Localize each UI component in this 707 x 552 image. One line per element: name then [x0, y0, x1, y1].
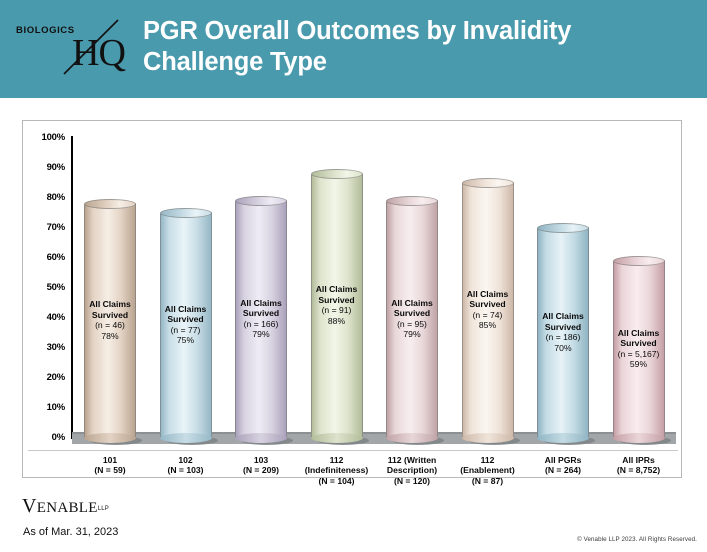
bar-data-label-line1: All Claims Survived [530, 311, 596, 332]
header-banner: BIOLOGICS HQ PGR Overall Outcomes by Inv… [0, 0, 707, 98]
y-axis-tick: 80% [23, 192, 65, 203]
copyright-notice: © Venable LLP 2023. All Rights Reserved. [577, 536, 697, 543]
plot-area: 100%90%80%70%60%50%40%30%20%10%0% All Cl… [23, 121, 683, 479]
bar-data-label: All Claims Survived(n = 5,167) 59% [606, 328, 672, 370]
y-axis-tick: 70% [23, 222, 65, 233]
bar-data-label-line2: (n = 95) 79% [379, 319, 445, 340]
bar-data-label-line1: All Claims Survived [379, 298, 445, 319]
bar-cylinder-top [613, 256, 665, 266]
y-axis-tick: 0% [23, 432, 65, 443]
bar-cylinder-top [537, 223, 589, 233]
y-axis-tick: 60% [23, 252, 65, 263]
bar-cylinder-top [235, 196, 287, 206]
y-axis-tick: 30% [23, 342, 65, 353]
bar-cylinder-base [311, 433, 363, 443]
bar-cylinder-base [160, 433, 212, 443]
logo-biologics-text: BIOLOGICS [16, 25, 75, 36]
y-axis-line [71, 136, 73, 439]
biologics-hq-logo: BIOLOGICS HQ [14, 14, 134, 88]
venable-logo-main: ENABLE [37, 500, 98, 516]
venable-logo-initial: V [22, 495, 37, 517]
bar-cylinder-top [386, 196, 438, 206]
venable-logo: VENABLELLP [22, 496, 109, 519]
bar-data-label-line2: (n = 186) 70% [530, 332, 596, 353]
bar-data-label-line2: (n = 46) 78% [77, 320, 143, 341]
bar-data-label-line2: (n = 5,167) 59% [606, 349, 672, 370]
x-axis-tick: All IPRs (N = 8,752) [595, 455, 683, 476]
y-axis-tick: 100% [23, 132, 65, 143]
bar-cylinder-base [386, 433, 438, 443]
bar-data-label: All Claims Survived(n = 95) 79% [379, 298, 445, 340]
bar-6[interactable]: All Claims Survived(n = 74) 85% [462, 183, 514, 438]
bar-data-label: All Claims Survived(n = 166) 79% [228, 298, 294, 340]
as-of-date: As of Mar. 31, 2023 [23, 526, 118, 538]
bar-3[interactable]: All Claims Survived(n = 166) 79% [235, 201, 287, 438]
y-axis-tick: 20% [23, 372, 65, 383]
bar-cylinder-top [84, 199, 136, 209]
bar-data-label-line1: All Claims Survived [455, 289, 521, 310]
bar-8[interactable]: All Claims Survived(n = 5,167) 59% [613, 261, 665, 438]
page-title: PGR Overall Outcomes by Invalidity Chall… [143, 16, 683, 78]
bar-data-label-line1: All Claims Survived [304, 284, 370, 305]
bar-data-label: All Claims Survived(n = 77) 75% [153, 304, 219, 346]
venable-logo-suffix: LLP [98, 506, 109, 512]
bar-data-label-line2: (n = 91) 88% [304, 305, 370, 326]
y-axis-tick: 10% [23, 402, 65, 413]
bar-cylinder-top [311, 169, 363, 179]
bar-data-label: All Claims Survived(n = 46) 78% [77, 299, 143, 341]
bar-data-label-line1: All Claims Survived [77, 299, 143, 320]
y-axis-tick: 90% [23, 162, 65, 173]
bar-cylinder-base [84, 433, 136, 443]
x-axis-separator [28, 450, 678, 451]
y-axis-tick: 40% [23, 312, 65, 323]
bar-data-label-line2: (n = 74) 85% [455, 310, 521, 331]
bar-data-label-line2: (n = 77) 75% [153, 325, 219, 346]
logo-hq-text: HQ [72, 34, 125, 72]
bar-cylinder-base [613, 433, 665, 443]
bar-cylinder-top [462, 178, 514, 188]
bar-data-label-line1: All Claims Survived [153, 304, 219, 325]
bar-5[interactable]: All Claims Survived(n = 95) 79% [386, 201, 438, 438]
bar-cylinder-base [235, 433, 287, 443]
y-axis-tick: 50% [23, 282, 65, 293]
bar-cylinder-base [462, 433, 514, 443]
bar-data-label-line1: All Claims Survived [606, 328, 672, 349]
chart-frame: 100%90%80%70%60%50%40%30%20%10%0% All Cl… [22, 120, 682, 478]
bar-data-label: All Claims Survived(n = 186) 70% [530, 311, 596, 353]
bar-2[interactable]: All Claims Survived(n = 77) 75% [160, 213, 212, 438]
bar-cylinder-top [160, 208, 212, 218]
bar-cylinder-base [537, 433, 589, 443]
bar-1[interactable]: All Claims Survived(n = 46) 78% [84, 204, 136, 438]
bar-data-label-line1: All Claims Survived [228, 298, 294, 319]
bar-data-label: All Claims Survived(n = 74) 85% [455, 289, 521, 331]
bar-4[interactable]: All Claims Survived(n = 91) 88% [311, 174, 363, 438]
bar-data-label: All Claims Survived(n = 91) 88% [304, 284, 370, 326]
bar-7[interactable]: All Claims Survived(n = 186) 70% [537, 228, 589, 438]
bar-data-label-line2: (n = 166) 79% [228, 319, 294, 340]
